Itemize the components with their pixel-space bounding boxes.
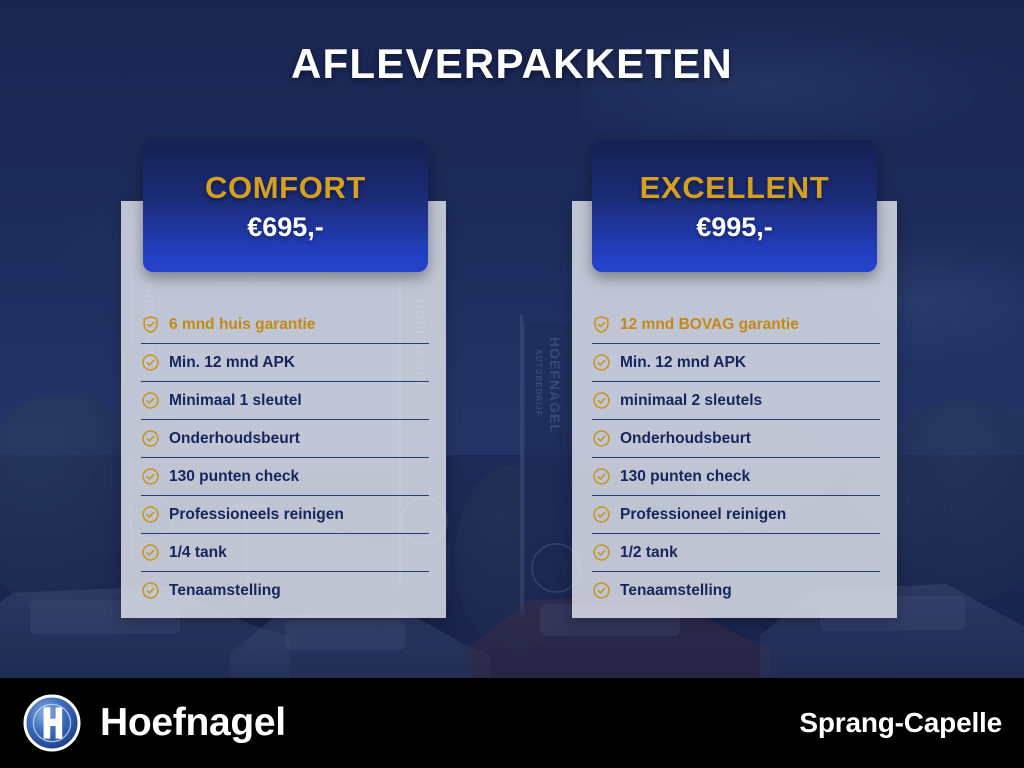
shield-check-icon — [592, 315, 611, 334]
feature-row: Min. 12 mnd APK — [592, 344, 880, 382]
feature-label: Professioneel reinigen — [620, 506, 786, 524]
feature-label: Professioneels reinigen — [169, 506, 344, 524]
poster-canvas: HOEFNAGEL HOEFNAGEL AUTOBEDRIJF HOEFNAGE… — [0, 0, 1024, 768]
page-title: AFLEVERPAKKETEN — [0, 40, 1024, 88]
feature-row: Professioneels reinigen — [141, 496, 429, 534]
circle-check-icon — [592, 581, 611, 600]
feature-row: Tenaamstelling — [592, 572, 880, 609]
feature-row: Onderhoudsbeurt — [141, 420, 429, 458]
feature-list-comfort: 6 mnd huis garantie Min. 12 mnd APK Mini… — [141, 306, 429, 609]
circle-check-icon — [141, 353, 160, 372]
feature-row: minimaal 2 sleutels — [592, 382, 880, 420]
feature-label: Onderhoudsbeurt — [620, 430, 751, 448]
brand-block: Hoefnagel — [22, 693, 286, 753]
circle-check-icon — [141, 581, 160, 600]
feature-label: Onderhoudsbeurt — [169, 430, 300, 448]
feature-row: 130 punten check — [141, 458, 429, 496]
feature-row: Minimaal 1 sleutel — [141, 382, 429, 420]
feature-label: 130 punten check — [169, 468, 299, 486]
package-card-comfort: COMFORT €695,- 6 mnd huis garantie Min. … — [121, 201, 446, 618]
feature-label: Min. 12 mnd APK — [620, 354, 746, 372]
package-price: €995,- — [696, 212, 773, 243]
circle-check-icon — [141, 505, 160, 524]
circle-check-icon — [592, 467, 611, 486]
package-header-comfort: COMFORT €695,- — [143, 140, 428, 272]
package-name: COMFORT — [205, 170, 366, 206]
feature-row: 12 mnd BOVAG garantie — [592, 306, 880, 344]
feature-label: 1/4 tank — [169, 544, 227, 562]
feature-row: Min. 12 mnd APK — [141, 344, 429, 382]
package-header-excellent: EXCELLENT €995,- — [592, 140, 877, 272]
feature-label: minimaal 2 sleutels — [620, 392, 762, 410]
location-label: Sprang-Capelle — [799, 707, 1002, 739]
hoefnagel-logo-icon — [22, 693, 82, 753]
circle-check-icon — [592, 543, 611, 562]
feature-list-excellent: 12 mnd BOVAG garantie Min. 12 mnd APK mi… — [592, 306, 880, 609]
circle-check-icon — [141, 467, 160, 486]
circle-check-icon — [592, 353, 611, 372]
feature-row: Tenaamstelling — [141, 572, 429, 609]
circle-check-icon — [592, 391, 611, 410]
feature-label: 1/2 tank — [620, 544, 678, 562]
package-card-excellent: EXCELLENT €995,- 12 mnd BOVAG garantie M… — [572, 201, 897, 618]
feature-label: Minimaal 1 sleutel — [169, 392, 302, 410]
feature-label: 12 mnd BOVAG garantie — [620, 316, 799, 334]
feature-label: Tenaamstelling — [169, 582, 281, 600]
feature-row: Professioneel reinigen — [592, 496, 880, 534]
feature-row: Onderhoudsbeurt — [592, 420, 880, 458]
feature-row: 1/2 tank — [592, 534, 880, 572]
package-price: €695,- — [247, 212, 324, 243]
feature-label: 130 punten check — [620, 468, 750, 486]
circle-check-icon — [592, 429, 611, 448]
footer-bar: Hoefnagel Sprang-Capelle — [0, 678, 1024, 768]
package-name: EXCELLENT — [640, 170, 830, 206]
circle-check-icon — [592, 505, 611, 524]
shield-check-icon — [141, 315, 160, 334]
feature-row: 1/4 tank — [141, 534, 429, 572]
feature-row: 130 punten check — [592, 458, 880, 496]
feature-row: 6 mnd huis garantie — [141, 306, 429, 344]
feature-label: 6 mnd huis garantie — [169, 316, 315, 334]
circle-check-icon — [141, 391, 160, 410]
brand-name: Hoefnagel — [100, 701, 286, 745]
circle-check-icon — [141, 429, 160, 448]
feature-label: Tenaamstelling — [620, 582, 732, 600]
feature-label: Min. 12 mnd APK — [169, 354, 295, 372]
circle-check-icon — [141, 543, 160, 562]
